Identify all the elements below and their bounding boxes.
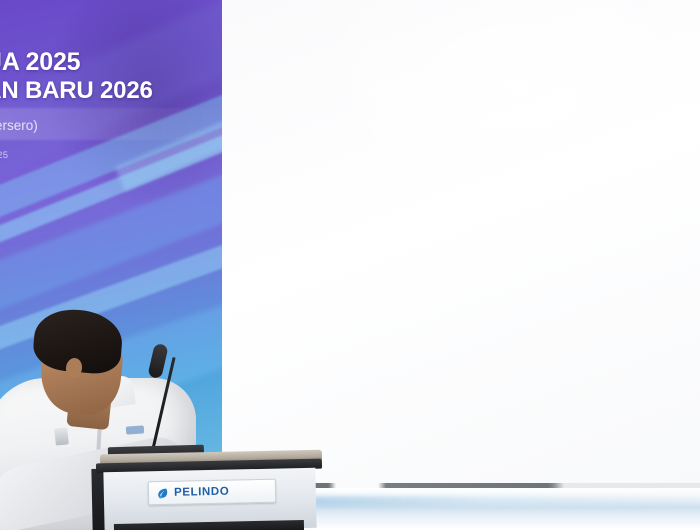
bullet-word: Kawasan — [344, 275, 400, 287]
bullet-word: Kawasan — [357, 238, 427, 250]
bullet-dot-icon: • — [496, 236, 500, 271]
bullet-dot-icon: • — [244, 383, 248, 418]
bullet-item: •Pengembangan kawasan pendukung Terminal… — [244, 383, 449, 418]
bullet-word: dan — [506, 329, 528, 341]
bullet-word: Reserved — [400, 275, 449, 287]
bullet-dot-icon: • — [496, 309, 500, 344]
bullet-dot-icon: • — [496, 273, 500, 308]
bullet-word: Pengembangan — [254, 238, 358, 250]
bullet-text: Kerjasama strategic partnership BMTH — [254, 309, 449, 344]
banner-title-line2: RAPAN BARU 2026 — [0, 77, 222, 105]
bullet-text: Optimalisasi pengoperasian Terminal Peti… — [254, 346, 449, 381]
bullet-item: •Optimalisasi pengoperasian Terminal Pet… — [244, 346, 449, 381]
bullet-word: pengembangan local crane — [528, 329, 665, 341]
bullet-word: Product Terminal — [254, 255, 339, 267]
podium: PELINDO — [96, 452, 324, 530]
bullet-word: Kerjasama — [254, 311, 329, 323]
slide-top-heading: erbagai lan — [623, 0, 692, 12]
bullet-text: Pengembangan Kawasan CT2 Product Termina… — [254, 236, 449, 271]
banner-subtitle: onesia (Persero) — [0, 118, 222, 133]
bullet-word: Pengelolaan — [590, 238, 675, 250]
bullet-text: Pengembangan kawasan pendukung Terminal … — [254, 383, 449, 418]
bullet-item: •Pengembangan bisnis shipbuilding dan pe… — [496, 309, 696, 344]
banner-title: NERJA 2025 RAPAN BARU 2026 — [0, 48, 222, 105]
badge-pengelolaan-alur-pelayaran: Pengelolaan Alur Pelayaran dan Diversifi… — [500, 174, 699, 219]
shirt-logo — [126, 425, 145, 434]
bullet-word: Pengembangan — [254, 385, 341, 397]
banner-date: esember 2025 — [0, 150, 222, 161]
bullet-dot-icon: • — [244, 273, 248, 308]
badge-left-line3: Terintegrasi — [264, 195, 431, 210]
container-terminal-photo — [290, 20, 402, 132]
badge-left-line2: pada Ekosistem yang — [264, 179, 431, 194]
bullet-word: kawasan — [341, 385, 393, 397]
screenshot-stage: erbagai lan — [0, 0, 700, 530]
bullet-text: Pengembangan bisnis marine dan peralatan… — [506, 273, 696, 308]
bullet-text: Pengembangan Kawasan Reserved Area dan L… — [254, 273, 449, 308]
badge-right-line1: Pengelolaan Alur Pelayaran — [519, 181, 681, 196]
presentation-slide: erbagai lan — [218, 0, 700, 488]
podium-brand-plate: PELINDO — [148, 479, 276, 506]
bullet-word: strategic — [329, 311, 392, 323]
bullet-word: Kerjasama — [254, 421, 312, 433]
left-bullet-list: •Pengembangan Kawasan CT2 Product Termin… — [244, 236, 449, 456]
bullet-item: •Pengembangan bisnis marine dan peralata… — [496, 273, 696, 308]
bullet-dot-icon: • — [244, 236, 248, 271]
bullet-word: domestik dan ekspor — [329, 439, 434, 451]
banner-title-line1: NERJA 2025 — [0, 48, 222, 77]
pelindo-leaf-logo — [156, 486, 169, 499]
bullet-dot-icon: • — [244, 309, 248, 344]
microphone-head — [147, 343, 168, 379]
bullet-word: Area dan Logistik Center — [254, 292, 379, 304]
bullet-item: •Kerjasama mitra strategis pengelolaan K… — [244, 419, 449, 454]
right-bullet-list: •Optimalisasi Pengelolaan Alur Pelayaran… — [496, 236, 696, 346]
bullet-word: Pengembangan bisnis marine — [506, 275, 677, 287]
badge-sinergi-pengembangan-bisnis: Sinergi Pengembangan Bisnis pada Ekosist… — [250, 157, 445, 217]
slide-content: erbagai lan — [218, 0, 700, 488]
bullet-text: Kerjasama mitra strategis pengelolaan Ku… — [254, 419, 449, 454]
bullet-text: Pengembangan bisnis shipbuilding dan pen… — [506, 309, 696, 344]
bullet-word: strategis — [340, 421, 386, 433]
bullet-word: mitra — [312, 421, 341, 433]
bullet-word: CT2 — [427, 238, 449, 250]
bullet-word: Optimalisasi — [254, 348, 323, 360]
bullet-word: Pengembangan bisnis — [506, 311, 636, 323]
bullet-word: Optimalisasi — [506, 238, 591, 250]
bullet-dot-icon: • — [244, 419, 248, 454]
bullet-text: Optimalisasi Pengelolaan Alur Pelayaran — [506, 236, 696, 271]
bullet-item: •Pengembangan Kawasan CT2 Product Termin… — [244, 236, 449, 271]
bullet-word: Pengembangan — [254, 275, 344, 287]
bullet-item: •Kerjasama strategic partnership BMTH — [244, 309, 449, 344]
podium-brand-text: PELINDO — [174, 486, 230, 499]
bullet-dot-icon: • — [244, 346, 248, 381]
badge-right-line2: dan Diversifikasi Bisnis MEPS — [519, 197, 681, 212]
bullet-item: •Optimalisasi Pengelolaan Alur Pelayaran — [496, 236, 696, 271]
bullet-word: pengoperasian — [323, 348, 406, 360]
badge-left-line1: Sinergi Pengembangan Bisnis — [264, 164, 431, 179]
bullet-item: •Pengembangan Kawasan Reserved Area dan … — [244, 273, 449, 308]
bullet-word: pengelolaan — [387, 421, 449, 433]
bullet-word: shipbuilding — [636, 311, 696, 323]
dredging-waterway-photo — [524, 40, 636, 158]
name-badge — [54, 427, 69, 445]
